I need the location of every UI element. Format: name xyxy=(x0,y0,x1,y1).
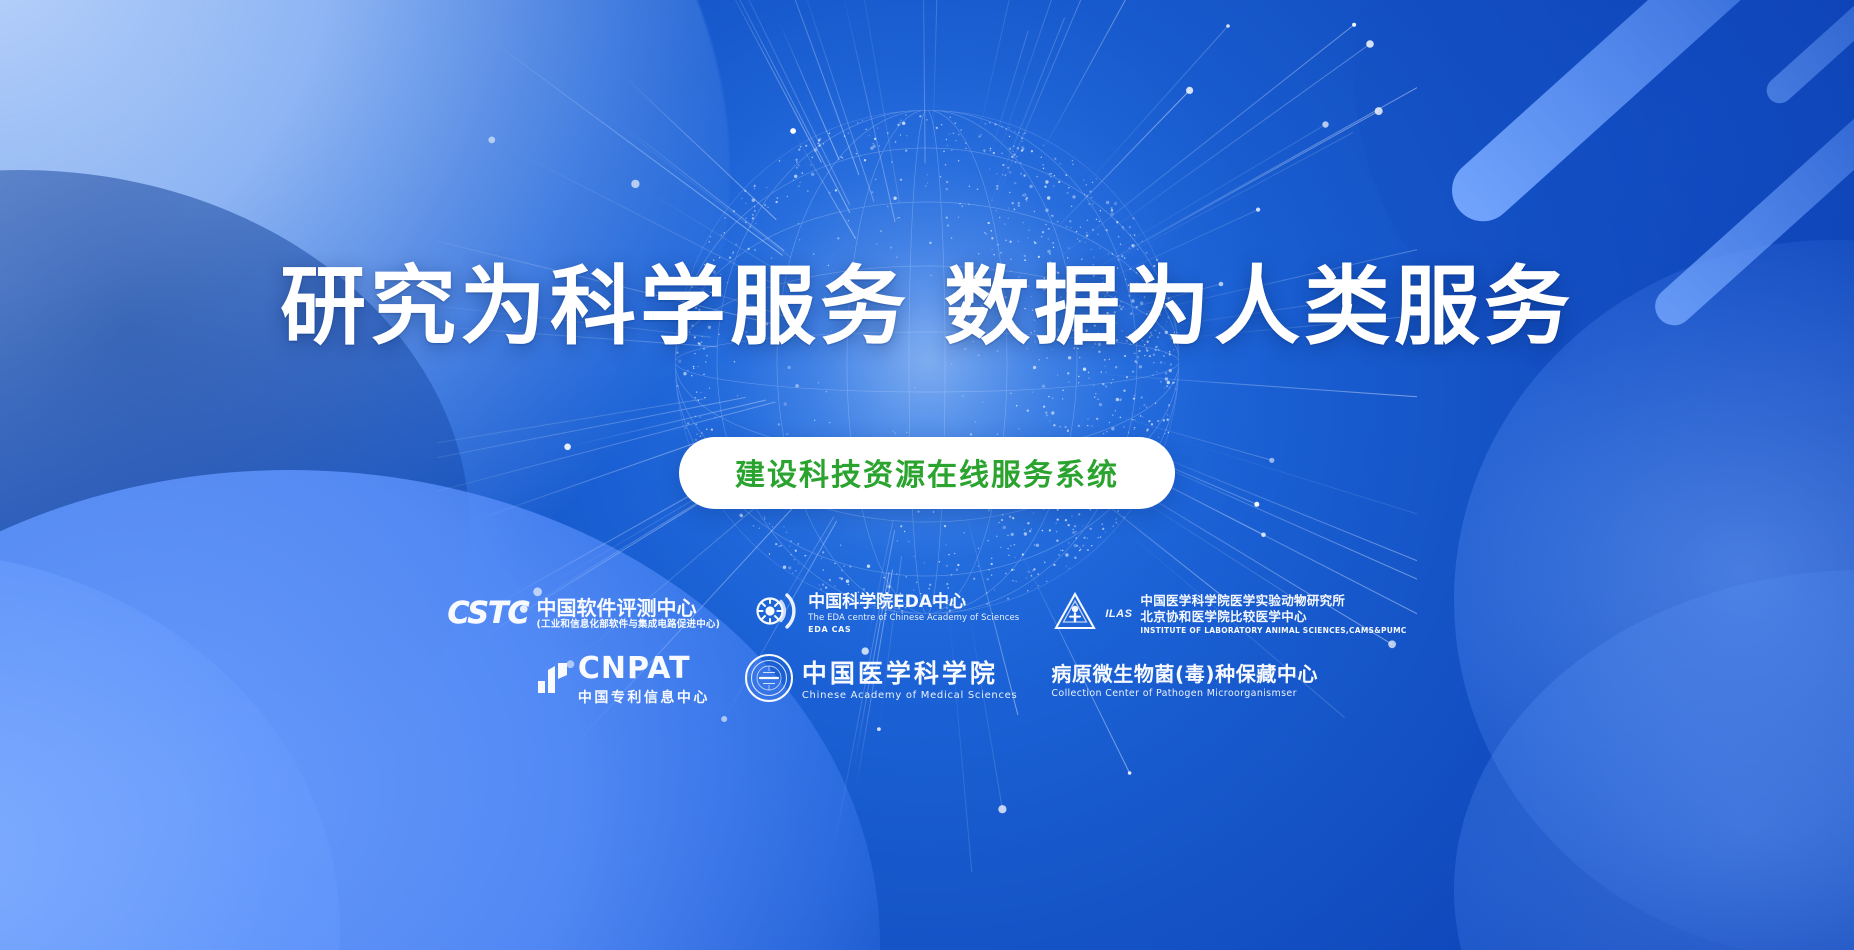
eda-cas-tag: EDA CAS xyxy=(808,625,1019,634)
particle-globe-graphic xyxy=(437,0,1417,872)
ilas-name-cn-line1: 中国医学科学院医学实验动物研究所 xyxy=(1140,593,1406,609)
pathogen-name-en: Collection Center of Pathogen Microorgan… xyxy=(1051,688,1318,699)
ilas-text-block: 中国医学科学院医学实验动物研究所 北京协和医学院比较医学中心 INSTITUTE… xyxy=(1140,593,1406,635)
pathogen-text-block: 病原微生物菌(毒)种保藏中心 Collection Center of Path… xyxy=(1051,663,1318,699)
cnpat-wordmark: CNPAT xyxy=(578,654,710,684)
cstc-name-sub: (工业和信息化部软件与集成电路促进中心) xyxy=(536,619,720,630)
partner-logos: CSTC 中国软件评测中心 (工业和信息化部软件与集成电路促进中心) xyxy=(0,588,1854,708)
background-wave-bottom-left xyxy=(0,470,880,950)
cams-text-block: 中国医学科学院 Chinese Academy of Medical Scien… xyxy=(802,660,1018,701)
partner-logo-cnpat[interactable]: CNPAT 中国专利信息中心 xyxy=(536,654,710,707)
cnpat-text-block: CNPAT 中国专利信息中心 xyxy=(578,654,710,707)
cnpat-bars-icon xyxy=(536,661,570,700)
headline-part-2: 数据为人类服务 xyxy=(944,257,1574,357)
background-blob-top-right-dark xyxy=(1354,0,1854,420)
partner-logo-eda-cas[interactable]: 中国科学院EDA中心 The EDA centre of Chinese Aca… xyxy=(754,588,1019,639)
ilas-name-en: INSTITUTE OF LABORATORY ANIMAL SCIENCES,… xyxy=(1140,626,1406,635)
headline-part-1: 研究为科学服务 xyxy=(280,257,910,357)
page-title: 研究为科学服务数据为人类服务 xyxy=(0,262,1854,353)
partner-logo-pathogen-center[interactable]: 病原微生物菌(毒)种保藏中心 Collection Center of Path… xyxy=(1051,663,1318,699)
cams-seal-icon xyxy=(744,653,794,708)
eda-cas-name-en: The EDA centre of Chinese Academy of Sci… xyxy=(808,613,1019,624)
subtitle-pill[interactable]: 建设科技资源在线服务系统 xyxy=(679,437,1175,509)
comet-streak-tiny-icon xyxy=(1761,0,1854,109)
cnpat-name-cn: 中国专利信息中心 xyxy=(578,687,710,707)
eda-cas-emblem-icon xyxy=(754,588,800,639)
eda-cas-name-cn: 中国科学院EDA中心 xyxy=(808,593,1019,613)
eda-cas-text-block: 中国科学院EDA中心 The EDA centre of Chinese Aca… xyxy=(808,593,1019,633)
pathogen-name-cn: 病原微生物菌(毒)种保藏中心 xyxy=(1051,663,1318,686)
partner-logo-row-2: CNPAT 中国专利信息中心 xyxy=(536,653,1318,708)
comet-streak-icon xyxy=(1439,0,1854,234)
partner-logo-ilas[interactable]: ILAS 中国医学科学院医学实验动物研究所 北京协和医学院比较医学中心 INST… xyxy=(1053,590,1406,637)
partner-logo-cams[interactable]: 中国医学科学院 Chinese Academy of Medical Scien… xyxy=(744,653,1018,708)
partner-logo-row-1: CSTC 中国软件评测中心 (工业和信息化部软件与集成电路促进中心) xyxy=(447,588,1406,639)
ilas-triangle-emblem-icon xyxy=(1053,590,1097,637)
subtitle-pill-row: 建设科技资源在线服务系统 xyxy=(0,437,1854,509)
ilas-wordmark: ILAS xyxy=(1105,608,1132,620)
cstc-text-block: 中国软件评测中心 (工业和信息化部软件与集成电路促进中心) xyxy=(536,597,720,630)
cstc-wordmark-icon: CSTC xyxy=(447,596,528,631)
ilas-name-cn-line2: 北京协和医学院比较医学中心 xyxy=(1140,609,1406,625)
partner-logo-cstc[interactable]: CSTC 中国软件评测中心 (工业和信息化部软件与集成电路促进中心) xyxy=(447,596,720,631)
cams-name-en: Chinese Academy of Medical Sciences xyxy=(802,690,1018,701)
cams-name-cn: 中国医学科学院 xyxy=(802,660,1018,688)
banner-stage: 研究为科学服务数据为人类服务 建设科技资源在线服务系统 CSTC 中国软件评测中… xyxy=(0,0,1854,950)
cstc-name-cn: 中国软件评测中心 xyxy=(536,597,720,619)
